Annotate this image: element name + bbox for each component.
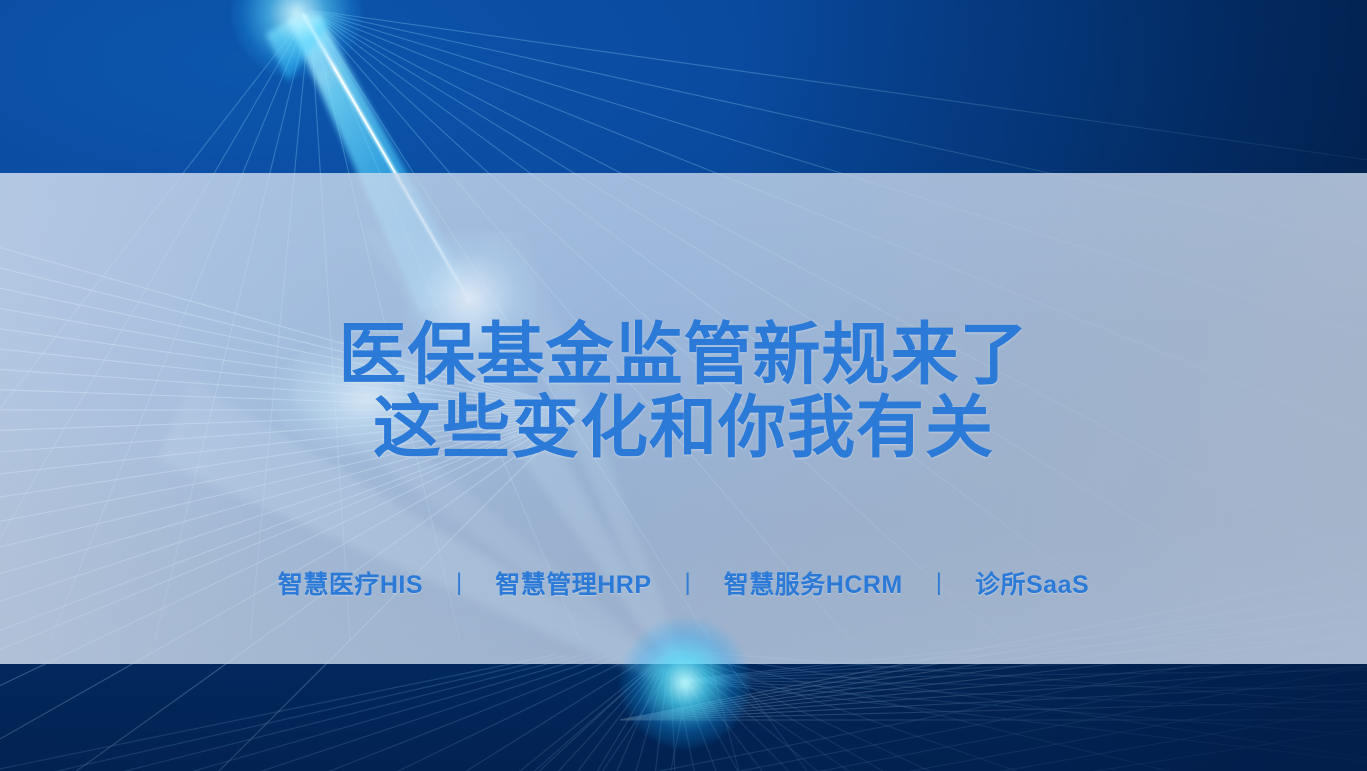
poster-content: 医保基金监管新规来了 这些变化和你我有关 智慧医疗HIS | 智慧管理HRP |… xyxy=(0,173,1367,664)
title-line-2: 这些变化和你我有关 xyxy=(338,392,1028,465)
poster-canvas: 医保基金监管新规来了 这些变化和你我有关 智慧医疗HIS | 智慧管理HRP |… xyxy=(0,0,1367,771)
poster-title: 医保基金监管新规来了 这些变化和你我有关 xyxy=(338,319,1028,465)
product-list: 智慧医疗HIS | 智慧管理HRP | 智慧服务HCRM | 诊所SaaS xyxy=(259,565,1108,601)
product-separator-1: | xyxy=(442,569,476,597)
product-separator-3: | xyxy=(922,569,956,597)
product-item-hcrm: 智慧服务HCRM xyxy=(705,565,922,601)
product-item-hrp: 智慧管理HRP xyxy=(476,565,670,601)
product-item-saas: 诊所SaaS xyxy=(956,565,1108,601)
title-line-1: 医保基金监管新规来了 xyxy=(338,319,1028,392)
product-item-his: 智慧医疗HIS xyxy=(259,565,442,601)
product-separator-2: | xyxy=(671,569,705,597)
